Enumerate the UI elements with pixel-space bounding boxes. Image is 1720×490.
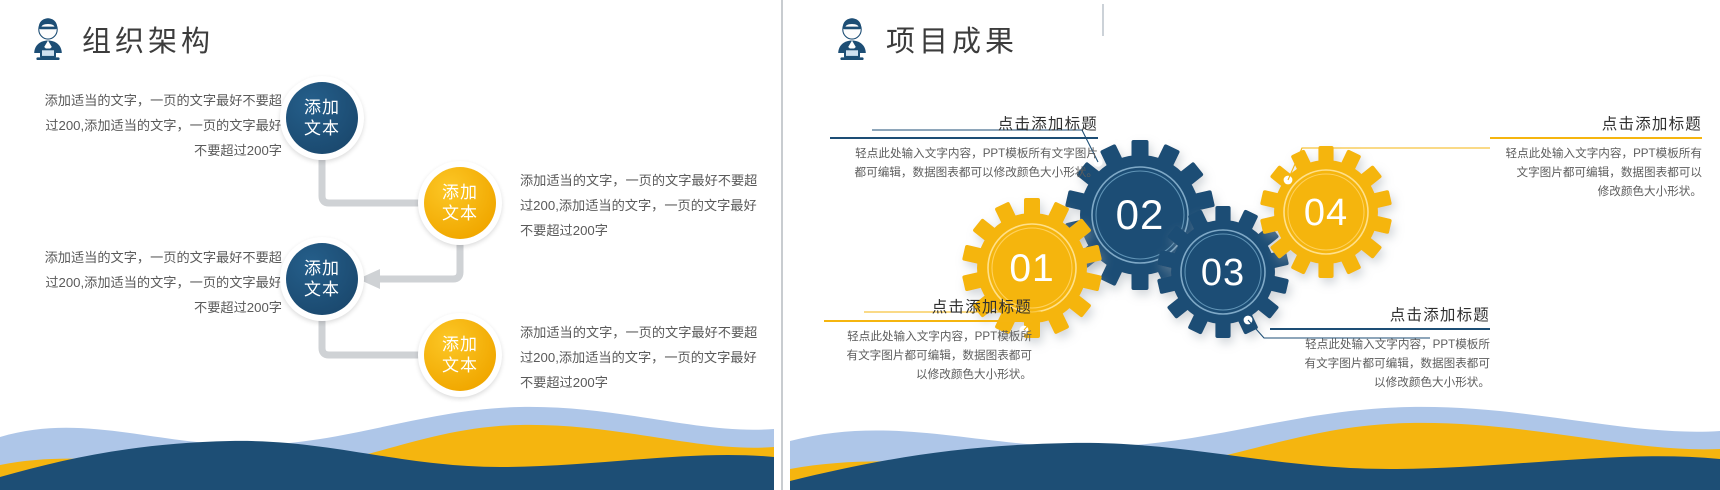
- svg-text:01: 01: [1009, 247, 1054, 290]
- org-node-3-inner: 添加 文本: [286, 243, 358, 315]
- org-text-block-2: 添加适当的文字，一页的文字最好不要超 过200,添加适当的文字，一页的文字最好 …: [520, 168, 770, 243]
- org-node-1-inner: 添加 文本: [286, 82, 358, 154]
- org-node-3-line1: 添加: [304, 258, 340, 279]
- callout-02-body: 轻点此处输入文字内容，PPT模板所有文字图片 都可编辑，数据图表都可以修改颜色大…: [830, 139, 1098, 182]
- slide-organization-structure: 组织架构 添加适当的文字，一页的文字最好不要超 过200,添加适当的文字，一页的…: [0, 0, 774, 490]
- org-node-3[interactable]: 添加 文本: [280, 237, 364, 321]
- callout-03: 点击添加标题 轻点此处输入文字内容，PPT模板所 有文字图片都可编辑，数据图表都…: [1270, 303, 1490, 392]
- svg-text:04: 04: [1304, 192, 1348, 234]
- callout-03-title: 点击添加标题: [1270, 303, 1490, 328]
- left-wave-decoration: [0, 395, 774, 490]
- callout-02-title: 点击添加标题: [830, 112, 1098, 137]
- slide-divider: [774, 0, 790, 490]
- left-slide-title: 组织架构: [82, 18, 214, 60]
- person-laptop-icon: [28, 16, 68, 62]
- callout-01-title: 点击添加标题: [824, 295, 1032, 320]
- svg-text:02: 02: [1116, 191, 1165, 238]
- org-text-block-1: 添加适当的文字，一页的文字最好不要超 过200,添加适当的文字，一页的文字最好 …: [20, 88, 282, 163]
- callout-01: 点击添加标题 轻点此处输入文字内容，PPT模板所 有文字图片都可编辑，数据图表都…: [824, 295, 1032, 384]
- slide-deck: 组织架构 添加适当的文字，一页的文字最好不要超 过200,添加适当的文字，一页的…: [0, 0, 1720, 490]
- slide-project-results: 项目成果: [790, 0, 1720, 490]
- org-node-4-line2: 文本: [442, 355, 478, 376]
- org-text-block-4: 添加适当的文字，一页的文字最好不要超 过200,添加适当的文字，一页的文字最好 …: [520, 320, 770, 395]
- callout-01-body: 轻点此处输入文字内容，PPT模板所 有文字图片都可编辑，数据图表都可 以修改颜色…: [824, 322, 1032, 384]
- org-node-2-line2: 文本: [442, 203, 478, 224]
- org-node-1-line2: 文本: [304, 118, 340, 139]
- gear-04: 04: [1260, 146, 1392, 278]
- callout-03-body: 轻点此处输入文字内容，PPT模板所 有文字图片都可编辑，数据图表都可 以修改颜色…: [1270, 330, 1490, 392]
- org-node-2-line1: 添加: [442, 182, 478, 203]
- org-text-block-3: 添加适当的文字，一页的文字最好不要超 过200,添加适当的文字，一页的文字最好 …: [20, 245, 282, 320]
- org-node-2-inner: 添加 文本: [424, 167, 496, 239]
- callout-04-body: 轻点此处输入文字内容，PPT模板所有 文字图片都可编辑，数据图表都可以 修改颜色…: [1490, 139, 1702, 201]
- org-node-4-inner: 添加 文本: [424, 319, 496, 391]
- org-node-1[interactable]: 添加 文本: [280, 76, 364, 160]
- org-node-3-line2: 文本: [304, 279, 340, 300]
- right-wave-decoration: [790, 395, 1720, 490]
- org-node-2[interactable]: 添加 文本: [418, 161, 502, 245]
- org-node-4[interactable]: 添加 文本: [418, 313, 502, 397]
- left-slide-header: 组织架构: [28, 16, 214, 62]
- svg-text:03: 03: [1201, 252, 1245, 294]
- org-node-4-line1: 添加: [442, 334, 478, 355]
- callout-02: 点击添加标题 轻点此处输入文字内容，PPT模板所有文字图片 都可编辑，数据图表都…: [830, 112, 1098, 182]
- callout-04: 点击添加标题 轻点此处输入文字内容，PPT模板所有 文字图片都可编辑，数据图表都…: [1490, 112, 1702, 201]
- callout-04-title: 点击添加标题: [1490, 112, 1702, 137]
- org-node-1-line1: 添加: [304, 97, 340, 118]
